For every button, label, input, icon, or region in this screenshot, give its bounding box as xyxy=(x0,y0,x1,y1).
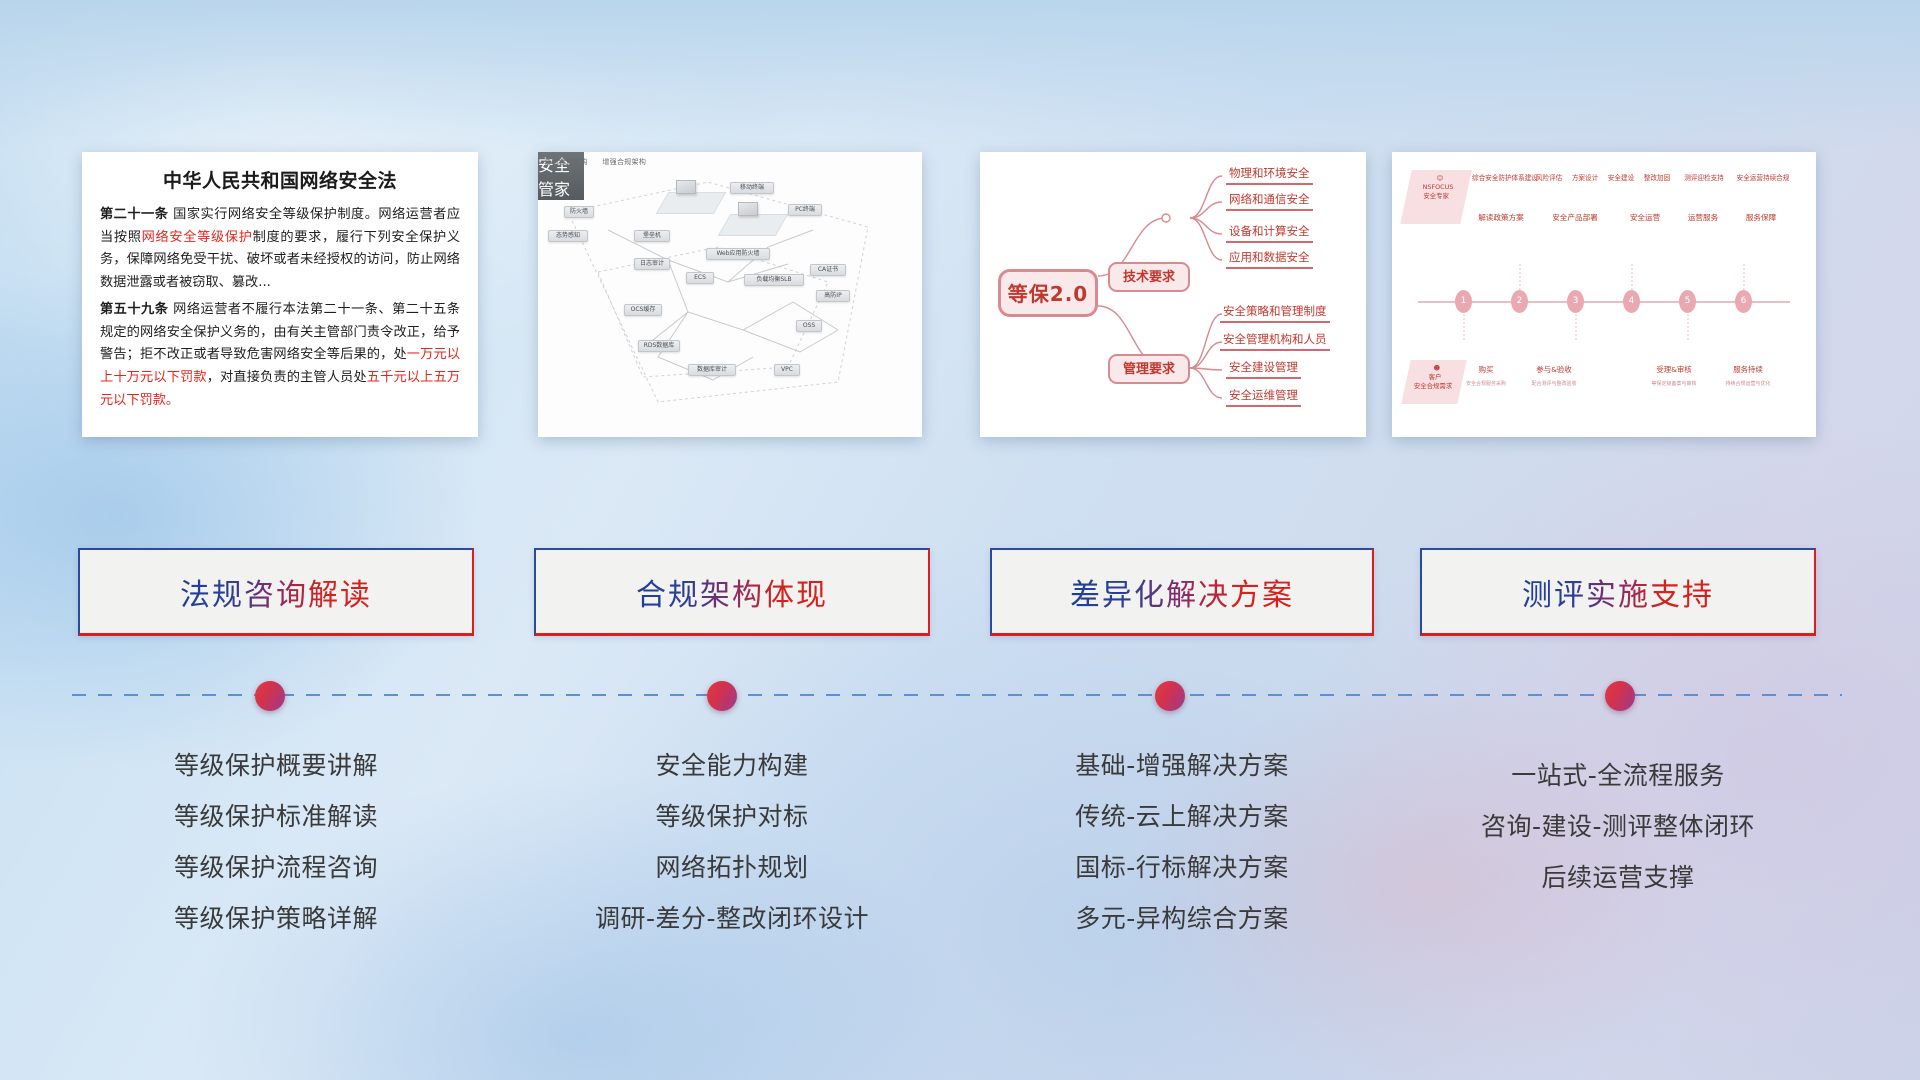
law-article-21: 第二十一条 国家实行网络安全等级保护制度。网络运营者应当按照网络安全等级保护制度… xyxy=(100,204,460,295)
headline-label-0: 法规咨询解读 xyxy=(180,570,372,614)
headline-label-1: 合规架构体现 xyxy=(636,570,828,614)
service-timeline-diagram: ☺ NSFOCUS 安全专家 综合安全防护体系建设 风险评估 方案设计 安全建设… xyxy=(1392,152,1816,437)
mindmap-branch-management[interactable]: 管理要求 xyxy=(1108,354,1190,384)
step-2[interactable]: 2 xyxy=(1511,290,1528,313)
law-article-21-label: 第二十一条 xyxy=(100,207,168,222)
top-chip-2: 方案设计 xyxy=(1568,172,1602,182)
step-6[interactable]: 6 xyxy=(1735,290,1752,313)
node-situation-awareness[interactable]: 态势感知 xyxy=(548,230,588,242)
step-3[interactable]: 3 xyxy=(1567,290,1584,313)
bottom-chip-1-sub: 配合测评与整改验收 xyxy=(1518,380,1590,387)
timeline-dot-1[interactable] xyxy=(255,681,285,711)
headline-label-2: 差异化解决方案 xyxy=(1070,570,1294,614)
phase-0: 解读政策方案 xyxy=(1470,212,1532,223)
top-chip-1: 风险评估 xyxy=(1532,172,1566,182)
headline-row: 法规咨询解读 合规架构体现 差异化解决方案 测评实施支持 xyxy=(0,548,1920,640)
detail-item-1-2: 等级保护流程咨询 xyxy=(78,842,474,893)
node-firewall[interactable]: 防火墙 xyxy=(564,206,594,218)
node-mobile-terminal[interactable]: 移动终端 xyxy=(730,182,774,194)
node-ocs-cache[interactable]: OCS缓存 xyxy=(624,304,662,316)
mindmap-leaf-physical-env[interactable]: 物理和环境安全 xyxy=(1226,165,1313,185)
timeline-dot-4[interactable] xyxy=(1605,681,1635,711)
mindmap-leaf-policy-system[interactable]: 安全策略和管理制度 xyxy=(1220,303,1330,323)
detail-column-4: 一站式-全流程服务 咨询-建设-测评整体闭环 后续运营支撑 xyxy=(1420,750,1816,903)
customer-label: 客户 xyxy=(1407,373,1463,382)
detail-item-3-3: 多元-异构综合方案 xyxy=(990,893,1374,944)
node-vpc[interactable]: VPC xyxy=(774,364,800,376)
dashed-timeline xyxy=(72,694,1842,696)
node-bastion-host[interactable]: 堡垒机 xyxy=(634,230,670,242)
timeline-dot-3[interactable] xyxy=(1155,681,1185,711)
card-compliance-architecture[interactable]: 基础合规架构 增强合规架构 xyxy=(538,152,922,437)
architecture-links xyxy=(538,152,922,437)
top-chip-3: 安全建设 xyxy=(1604,172,1638,182)
mindmap-leaf-device-compute[interactable]: 设备和计算安全 xyxy=(1226,223,1313,243)
mindmap-diagram: 等保2.0 技术要求 管理要求 物理和环境安全 网络和通信安全 设备和计算安全 … xyxy=(980,152,1366,437)
expert-role: 安全专家 xyxy=(1406,192,1466,201)
image-cards-row: 中华人民共和国网络安全法 第二十一条 国家实行网络安全等级保护制度。网络运营者应… xyxy=(0,152,1920,442)
headline-box-differentiated-solution[interactable]: 差异化解决方案 xyxy=(990,548,1374,636)
detail-column-1: 等级保护概要讲解 等级保护标准解读 等级保护流程咨询 等级保护策略详解 xyxy=(78,740,474,944)
mindmap-leaf-operations[interactable]: 安全运维管理 xyxy=(1226,387,1301,407)
detail-item-1-1: 等级保护标准解读 xyxy=(78,791,474,842)
node-log-audit[interactable]: 日志审计 xyxy=(634,258,670,270)
law-article-59: 第五十九条 网络运营者不履行本法第二十一条、第二十五条规定的网络安全保护义务的，… xyxy=(100,299,460,413)
detail-item-4-0: 一站式-全流程服务 xyxy=(1420,750,1816,801)
top-chip-4: 整改加固 xyxy=(1640,172,1674,182)
bottom-chip-2-sub: 等保定级备案与审核 xyxy=(1638,380,1710,387)
mindmap-leaf-network-comm[interactable]: 网络和通信安全 xyxy=(1226,191,1313,211)
detail-column-2: 安全能力构建 等级保护对标 网络拓扑规划 调研-差分-整改闭环设计 xyxy=(534,740,930,944)
node-anti-ddos[interactable]: 高防IP xyxy=(816,290,850,302)
customer-sub: 安全合规需求 xyxy=(1405,382,1461,391)
mindmap-root[interactable]: 等保2.0 xyxy=(998,269,1098,317)
detail-item-4-2: 后续运营支撑 xyxy=(1420,852,1816,903)
top-chip-0: 综合安全防护体系建设 xyxy=(1472,172,1530,182)
node-ca-cert[interactable]: CA证书 xyxy=(810,264,846,276)
architecture-diagram: 基础合规架构 增强合规架构 xyxy=(538,152,922,437)
detail-item-1-0: 等级保护概要讲解 xyxy=(78,740,474,791)
bottom-chip-2-title: 受理&审核 xyxy=(1648,364,1700,375)
detail-item-2-3: 调研-差分-整改闭环设计 xyxy=(534,893,930,944)
step-4[interactable]: 4 xyxy=(1623,290,1640,313)
mindmap-branch-technical[interactable]: 技术要求 xyxy=(1108,262,1190,292)
phase-3: 运营服务 xyxy=(1678,212,1728,223)
mindmap-leaf-org-personnel[interactable]: 安全管理机构和人员 xyxy=(1220,331,1330,351)
bottom-chip-1-title: 参与&验收 xyxy=(1528,364,1580,375)
law-title: 中华人民共和国网络安全法 xyxy=(100,166,460,193)
detail-item-3-2: 国标-行标解决方案 xyxy=(990,842,1374,893)
expert-badge[interactable]: ☺ NSFOCUS 安全专家 xyxy=(1400,170,1471,224)
node-db-audit[interactable]: 数据库审计 xyxy=(688,364,736,376)
card-mindmap-dengbao[interactable]: 等保2.0 技术要求 管理要求 物理和环境安全 网络和通信安全 设备和计算安全 … xyxy=(980,152,1366,437)
headline-box-regulation-consulting[interactable]: 法规咨询解读 xyxy=(78,548,474,636)
detail-item-3-0: 基础-增强解决方案 xyxy=(990,740,1374,791)
headline-box-compliance-architecture[interactable]: 合规架构体现 xyxy=(534,548,930,636)
customer-icon: ☻ xyxy=(1409,364,1465,373)
card-nsfocus-service-timeline[interactable]: ☺ NSFOCUS 安全专家 综合安全防护体系建设 风险评估 方案设计 安全建设… xyxy=(1392,152,1816,437)
detail-item-4-1: 咨询-建设-测评整体闭环 xyxy=(1420,801,1816,852)
bottom-chip-3-title: 服务持续 xyxy=(1722,364,1774,375)
step-5[interactable]: 5 xyxy=(1679,290,1696,313)
bottom-chip-3-sub: 持续合规运营与优化 xyxy=(1712,380,1784,387)
phase-1: 安全产品部署 xyxy=(1544,212,1606,223)
expert-icon: ☺ xyxy=(1410,174,1470,183)
bottom-chip-0-title: 购买 xyxy=(1466,364,1506,375)
node-oss[interactable]: OSS xyxy=(796,320,822,332)
detail-item-2-1: 等级保护对标 xyxy=(534,791,930,842)
timeline-dot-2[interactable] xyxy=(707,681,737,711)
detail-item-3-1: 传统-云上解决方案 xyxy=(990,791,1374,842)
step-1[interactable]: 1 xyxy=(1455,290,1472,313)
phase-2: 安全运营 xyxy=(1620,212,1670,223)
bottom-chip-0-sub: 安全合规服务采购 xyxy=(1458,380,1514,387)
law-article-59-text-b: ，对直接负责的主管人员处 xyxy=(207,370,367,385)
detail-column-3: 基础-增强解决方案 传统-云上解决方案 国标-行标解决方案 多元-异构综合方案 xyxy=(990,740,1374,944)
law-article-21-highlight: 网络安全等级保护 xyxy=(142,230,253,245)
card-cybersecurity-law[interactable]: 中华人民共和国网络安全法 第二十一条 国家实行网络安全等级保护制度。网络运营者应… xyxy=(82,152,478,437)
mindmap-leaf-construction[interactable]: 安全建设管理 xyxy=(1226,359,1301,379)
detail-item-1-3: 等级保护策略详解 xyxy=(78,893,474,944)
node-pc-terminal[interactable]: PC终端 xyxy=(788,204,822,216)
law-document: 中华人民共和国网络安全法 第二十一条 国家实行网络安全等级保护制度。网络运营者应… xyxy=(82,152,478,412)
top-chip-6: 安全运营持续合规 xyxy=(1732,172,1794,182)
law-article-59-label: 第五十九条 xyxy=(100,302,168,317)
detail-item-2-0: 安全能力构建 xyxy=(534,740,930,791)
detail-item-2-2: 网络拓扑规划 xyxy=(534,842,930,893)
node-web-waf[interactable]: Web应用防火墙 xyxy=(706,248,770,260)
headline-label-3: 测评实施支持 xyxy=(1522,570,1714,614)
mindmap-leaf-app-data[interactable]: 应用和数据安全 xyxy=(1226,249,1313,269)
detail-columns: 等级保护概要讲解 等级保护标准解读 等级保护流程咨询 等级保护策略详解 安全能力… xyxy=(0,740,1920,970)
expert-brand: NSFOCUS xyxy=(1408,183,1468,192)
top-chip-5: 测评迎检支持 xyxy=(1678,172,1730,182)
headline-box-assessment-support[interactable]: 测评实施支持 xyxy=(1420,548,1816,636)
node-rds[interactable]: RDS数据库 xyxy=(638,340,680,352)
customer-badge[interactable]: ☻ 客户 安全合规需求 xyxy=(1401,360,1466,404)
phase-4: 服务保障 xyxy=(1736,212,1786,223)
node-slb[interactable]: 负载均衡SLB xyxy=(744,274,804,286)
node-ecs[interactable]: ECS xyxy=(686,272,714,284)
